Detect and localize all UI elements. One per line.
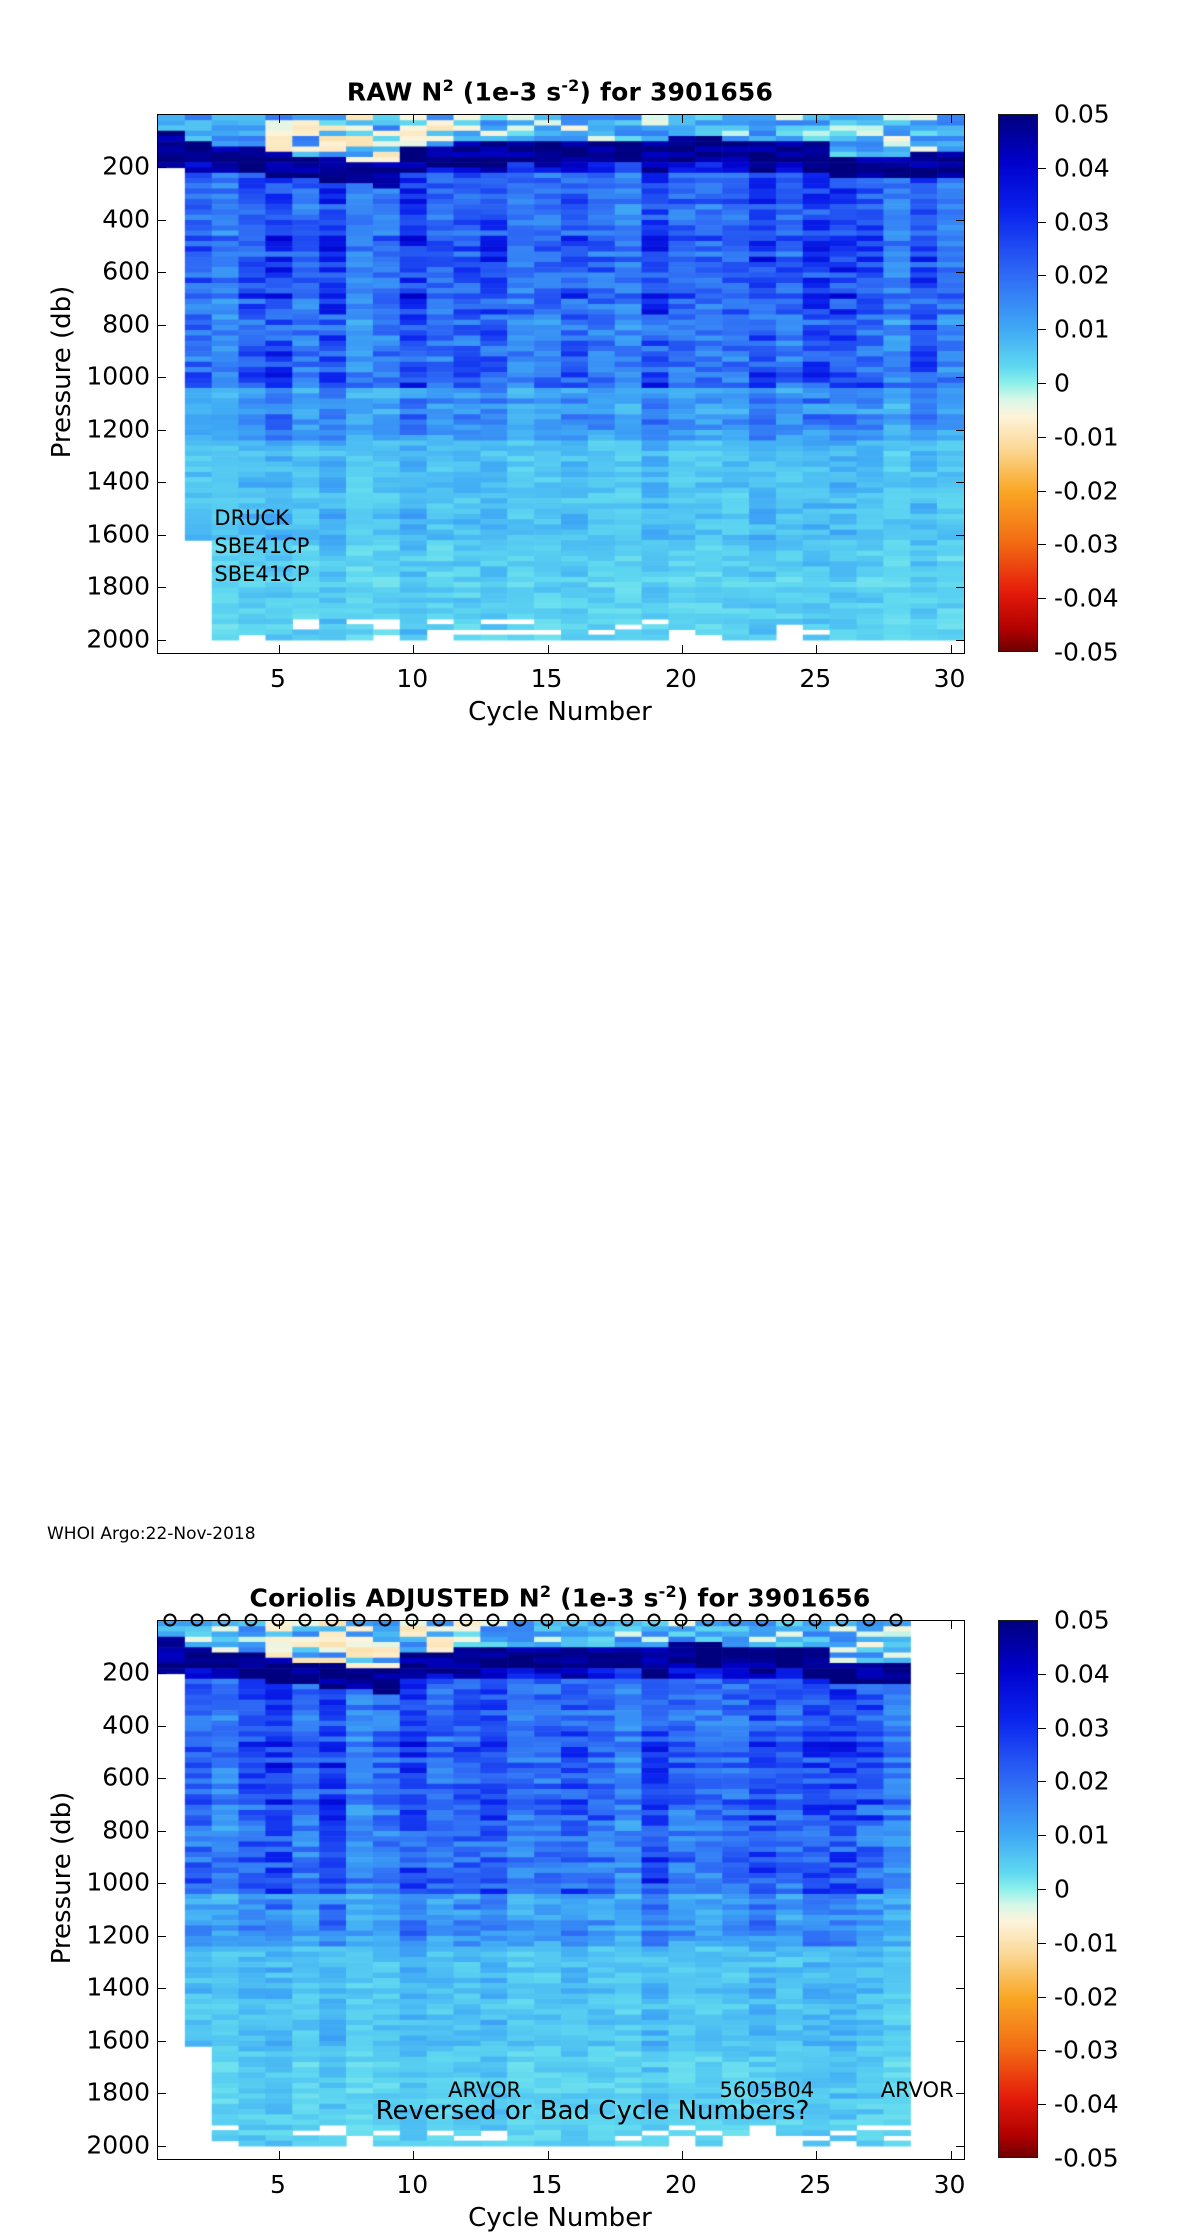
x-tick-label: 5 [270,664,286,693]
x-tick [816,2151,817,2160]
plot-area-adjusted: ARVORReversed or Bad Cycle Numbers?5605B… [157,1620,965,2160]
colorbar-tick-label: 0 [1054,1875,1070,1904]
y-tick [956,1831,965,1832]
y-tick [956,377,965,378]
colorbar-tick [1038,383,1046,384]
cycle-marker [674,1614,687,1627]
colorbar-tick [1038,2050,1046,2051]
cycle-marker [809,1614,822,1627]
plot-annotation: ARVOR [881,2078,954,2102]
y-tick [956,1778,965,1779]
colorbar-tick-label: 0.05 [1054,1606,1110,1635]
y-tick [157,2146,166,2147]
heatmap-adjusted [158,1621,964,2159]
colorbar-tick [1038,1943,1046,1944]
y-tick [157,482,166,483]
x-tick [951,1620,952,1629]
y-axis-labels-adjusted: 200400600800100012001400160018002000 [10,1620,150,2158]
x-tick [279,645,280,654]
title-sup-2: -2 [659,1582,677,1601]
title-sup-1: 2 [540,1582,551,1601]
colorbar-tick-label: -0.04 [1054,584,1119,613]
cycle-marker [836,1614,849,1627]
y-tick-label: 1400 [86,1973,150,2002]
colorbar-tick-label: -0.04 [1054,2090,1119,2119]
x-tick [548,114,549,123]
cycle-marker [486,1614,499,1627]
cycle-marker [245,1614,258,1627]
x-tick-label: 20 [665,664,697,693]
cycle-marker [433,1614,446,1627]
colorbar-tick-label: 0.02 [1054,261,1110,290]
y-tick-label: 400 [102,1710,150,1739]
colorbar-tick [1038,1997,1046,1998]
cycle-marker [298,1614,311,1627]
colorbar-tick-label: -0.05 [1054,638,1119,667]
y-axis-title-adjusted: Pressure (db) [47,1758,77,1998]
x-tick [279,114,280,123]
title-sup-2: -2 [561,76,579,95]
y-tick [956,1673,965,1674]
y-tick [956,430,965,431]
colorbar-tick-label: 0.04 [1054,153,1110,182]
panel-raw: RAW N2 (1e-3 s-2) for 3901656 DRUCKSBE41… [0,0,1200,790]
y-tick-label: 200 [102,152,150,181]
colorbar-raw: 0.050.040.030.020.010-0.01-0.02-0.03-0.0… [998,114,1198,652]
colorbar-tick [1038,1835,1046,1836]
colorbar-tick-label: 0 [1054,369,1070,398]
y-tick [956,2041,965,2042]
colorbar-tick-label: -0.05 [1054,2144,1119,2173]
y-tick-label: 600 [102,257,150,286]
y-tick-label: 1000 [86,1868,150,1897]
title-sup-1: 2 [443,76,454,95]
cycle-marker [513,1614,526,1627]
y-tick-label: 1200 [86,1920,150,1949]
y-tick [956,2146,965,2147]
y-tick-label: 400 [102,204,150,233]
cycle-marker [594,1614,607,1627]
colorbar-tick-label: -0.02 [1054,476,1119,505]
y-tick-label: 1400 [86,467,150,496]
colorbar-tick [1038,222,1046,223]
x-tick-label: 5 [270,2170,286,2199]
y-tick [157,640,166,641]
colorbar-tick-label: 0.01 [1054,315,1110,344]
title-text-post: ) for 3901656 [580,77,774,106]
panel-title-raw: RAW N2 (1e-3 s-2) for 3901656 [157,76,963,106]
title-text-pre: RAW N [347,77,443,106]
x-tick-label: 20 [665,2170,697,2199]
cycle-marker [352,1614,365,1627]
plot-annotation: SBE41CP [214,534,309,558]
colorbar-tick [1038,437,1046,438]
x-tick [682,114,683,123]
y-tick [956,1726,965,1727]
cycle-marker [889,1614,902,1627]
y-tick-label: 1800 [86,572,150,601]
title-text-post: ) for 3901656 [677,1583,871,1612]
colorbar-tick-label: -0.01 [1054,422,1119,451]
colorbar-tick-label: 0.03 [1054,1713,1110,1742]
colorbar-tick-label: -0.03 [1054,2036,1119,2065]
cycle-marker [271,1614,284,1627]
x-tick [279,2151,280,2160]
colorbar-gradient-raw [998,114,1038,652]
plot-area-raw: DRUCKSBE41CPSBE41CP [157,114,965,654]
cycle-marker [701,1614,714,1627]
cycle-marker [567,1614,580,1627]
title-text-mid: (1e-3 s [454,77,561,106]
y-tick [157,325,166,326]
y-tick-label: 2000 [86,624,150,653]
cycle-marker [406,1614,419,1627]
cycle-marker [325,1614,338,1627]
colorbar-tick [1038,1674,1046,1675]
y-tick [157,430,166,431]
panel-title-adjusted: Coriolis ADJUSTED N2 (1e-3 s-2) for 3901… [157,1582,963,1612]
y-tick [956,220,965,221]
colorbar-tick [1038,598,1046,599]
plot-annotation: DRUCK [214,506,289,530]
colorbar-tick [1038,1781,1046,1782]
colorbar-tick-label: 0.03 [1054,207,1110,236]
y-axis-labels-raw: 200400600800100012001400160018002000 [10,114,150,652]
cycle-marker [459,1614,472,1627]
plot-annotation: 5605B04 [720,2078,815,2102]
x-tick [951,114,952,123]
y-tick [157,1726,166,1727]
y-tick [956,482,965,483]
x-tick-label: 30 [934,664,966,693]
x-tick [413,114,414,123]
y-tick [956,1883,965,1884]
y-tick [956,167,965,168]
colorbar-gradient-adjusted [998,1620,1038,2158]
cycle-marker [191,1614,204,1627]
y-tick [956,272,965,273]
y-tick-label: 200 [102,1658,150,1687]
y-tick [157,1778,166,1779]
x-tick-label: 25 [799,664,831,693]
x-tick [816,645,817,654]
x-tick [951,2151,952,2160]
colorbar-tick [1038,329,1046,330]
y-tick [956,325,965,326]
y-tick-label: 1600 [86,2025,150,2054]
colorbar-tick [1038,544,1046,545]
panel-adjusted: Coriolis ADJUSTED N2 (1e-3 s-2) for 3901… [0,760,1200,1520]
y-axis-title-raw: Pressure (db) [47,252,77,492]
colorbar-tick-label: -0.03 [1054,530,1119,559]
figure-footer: WHOI Argo:22-Nov-2018 [47,1524,256,1544]
cycle-marker [540,1614,553,1627]
colorbar-tick [1038,1889,1046,1890]
cycle-marker [164,1614,177,1627]
colorbar-tick-label: 0.04 [1054,1659,1110,1688]
colorbar-tick-label: 0.02 [1054,1767,1110,1796]
x-tick [682,2151,683,2160]
colorbar-tick [1038,168,1046,169]
y-tick-label: 1000 [86,362,150,391]
x-tick-label: 15 [531,2170,563,2199]
colorbar-tick-label: -0.01 [1054,1928,1119,1957]
y-tick [956,587,965,588]
y-tick-label: 2000 [86,2130,150,2159]
y-tick [157,220,166,221]
y-tick-label: 1200 [86,414,150,443]
colorbar-adjusted: 0.050.040.030.020.010-0.01-0.02-0.03-0.0… [998,1620,1198,2158]
y-tick [157,1831,166,1832]
cycle-marker [218,1614,231,1627]
colorbar-tick-label: -0.02 [1054,1982,1119,2011]
cycle-marker [379,1614,392,1627]
y-tick [157,1988,166,1989]
x-tick-label: 15 [531,664,563,693]
cycle-marker [862,1614,875,1627]
y-tick [956,1936,965,1937]
y-tick [157,2041,166,2042]
y-tick [157,535,166,536]
y-tick [157,2093,166,2094]
y-tick-label: 1600 [86,519,150,548]
cycle-marker [755,1614,768,1627]
x-tick [816,114,817,123]
x-axis-labels-adjusted: 51015202530 [157,2166,963,2206]
x-tick [682,645,683,654]
y-tick-label: 1800 [86,2078,150,2107]
cycle-marker [648,1614,661,1627]
colorbar-tick [1038,2104,1046,2105]
colorbar-tick-label: 0.05 [1054,100,1110,129]
y-tick [157,167,166,168]
x-tick [413,645,414,654]
colorbar-tick [1038,1728,1046,1729]
y-tick [157,1936,166,1937]
y-tick [956,2093,965,2094]
title-text-mid: (1e-3 s [551,1583,658,1612]
x-tick-label: 30 [934,2170,966,2199]
colorbar-tick [1038,275,1046,276]
plot-annotation: SBE41CP [214,562,309,586]
y-tick [157,377,166,378]
y-tick [956,535,965,536]
x-axis-title-raw: Cycle Number [157,697,963,727]
y-tick-label: 800 [102,309,150,338]
y-tick [157,587,166,588]
x-tick [548,2151,549,2160]
x-axis-labels-raw: 51015202530 [157,660,963,700]
x-tick-label: 10 [396,2170,428,2199]
cycle-marker [621,1614,634,1627]
colorbar-tick-label: 0.01 [1054,1821,1110,1850]
x-tick [951,645,952,654]
x-tick [413,2151,414,2160]
y-tick [157,272,166,273]
y-tick [157,1883,166,1884]
y-tick [956,640,965,641]
y-tick [157,1673,166,1674]
title-text-pre: Coriolis ADJUSTED N [250,1583,540,1612]
cycle-marker [728,1614,741,1627]
x-axis-title-adjusted: Cycle Number [157,2203,963,2233]
x-tick [548,645,549,654]
x-tick-label: 25 [799,2170,831,2199]
colorbar-tick [1038,491,1046,492]
y-tick-label: 800 [102,1815,150,1844]
y-tick [956,1988,965,1989]
x-tick-label: 10 [396,664,428,693]
cycle-marker [782,1614,795,1627]
y-tick-label: 600 [102,1763,150,1792]
